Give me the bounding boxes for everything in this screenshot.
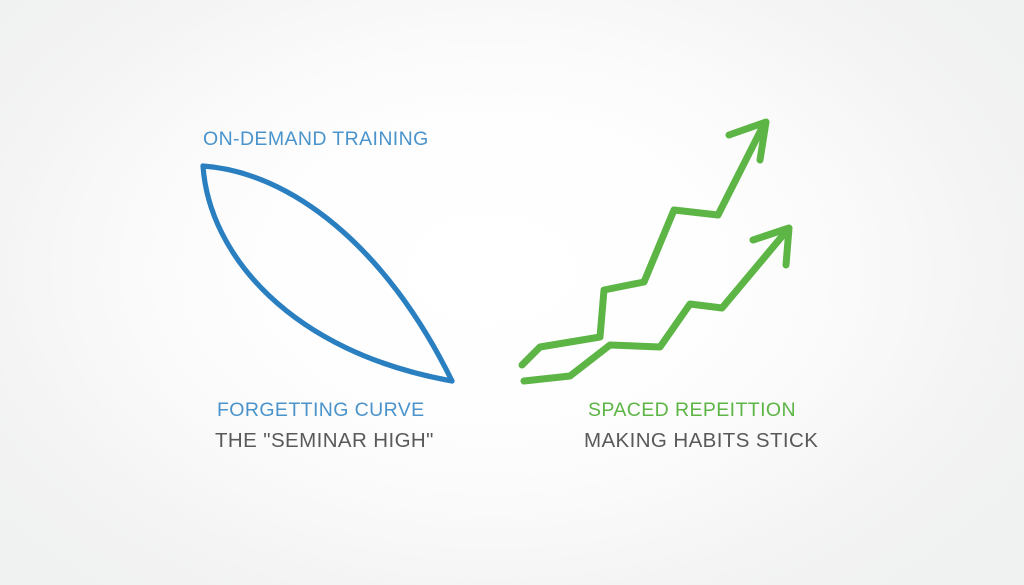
concept-illustration xyxy=(0,0,1024,585)
on-demand-training-label: ON-DEMAND TRAINING xyxy=(203,128,429,151)
forgetting-curve-subtitle: THE "SEMINAR HIGH" xyxy=(215,429,434,453)
forgetting-curve-title: FORGETTING CURVE xyxy=(217,399,425,422)
slide-canvas: ON-DEMAND TRAINING FORGETTING CURVE THE … xyxy=(0,0,1024,585)
lens-lower-arc xyxy=(203,166,452,381)
spaced-repetition-title: SPACED REPEITTION xyxy=(588,399,796,422)
lens-upper-arc xyxy=(203,166,452,381)
upper-arrow-line xyxy=(522,128,762,365)
spaced-repetition-upper-arrow xyxy=(522,122,766,365)
spaced-repetition-subtitle: MAKING HABITS STICK xyxy=(584,429,818,453)
forgetting-curve-lens xyxy=(203,166,452,381)
